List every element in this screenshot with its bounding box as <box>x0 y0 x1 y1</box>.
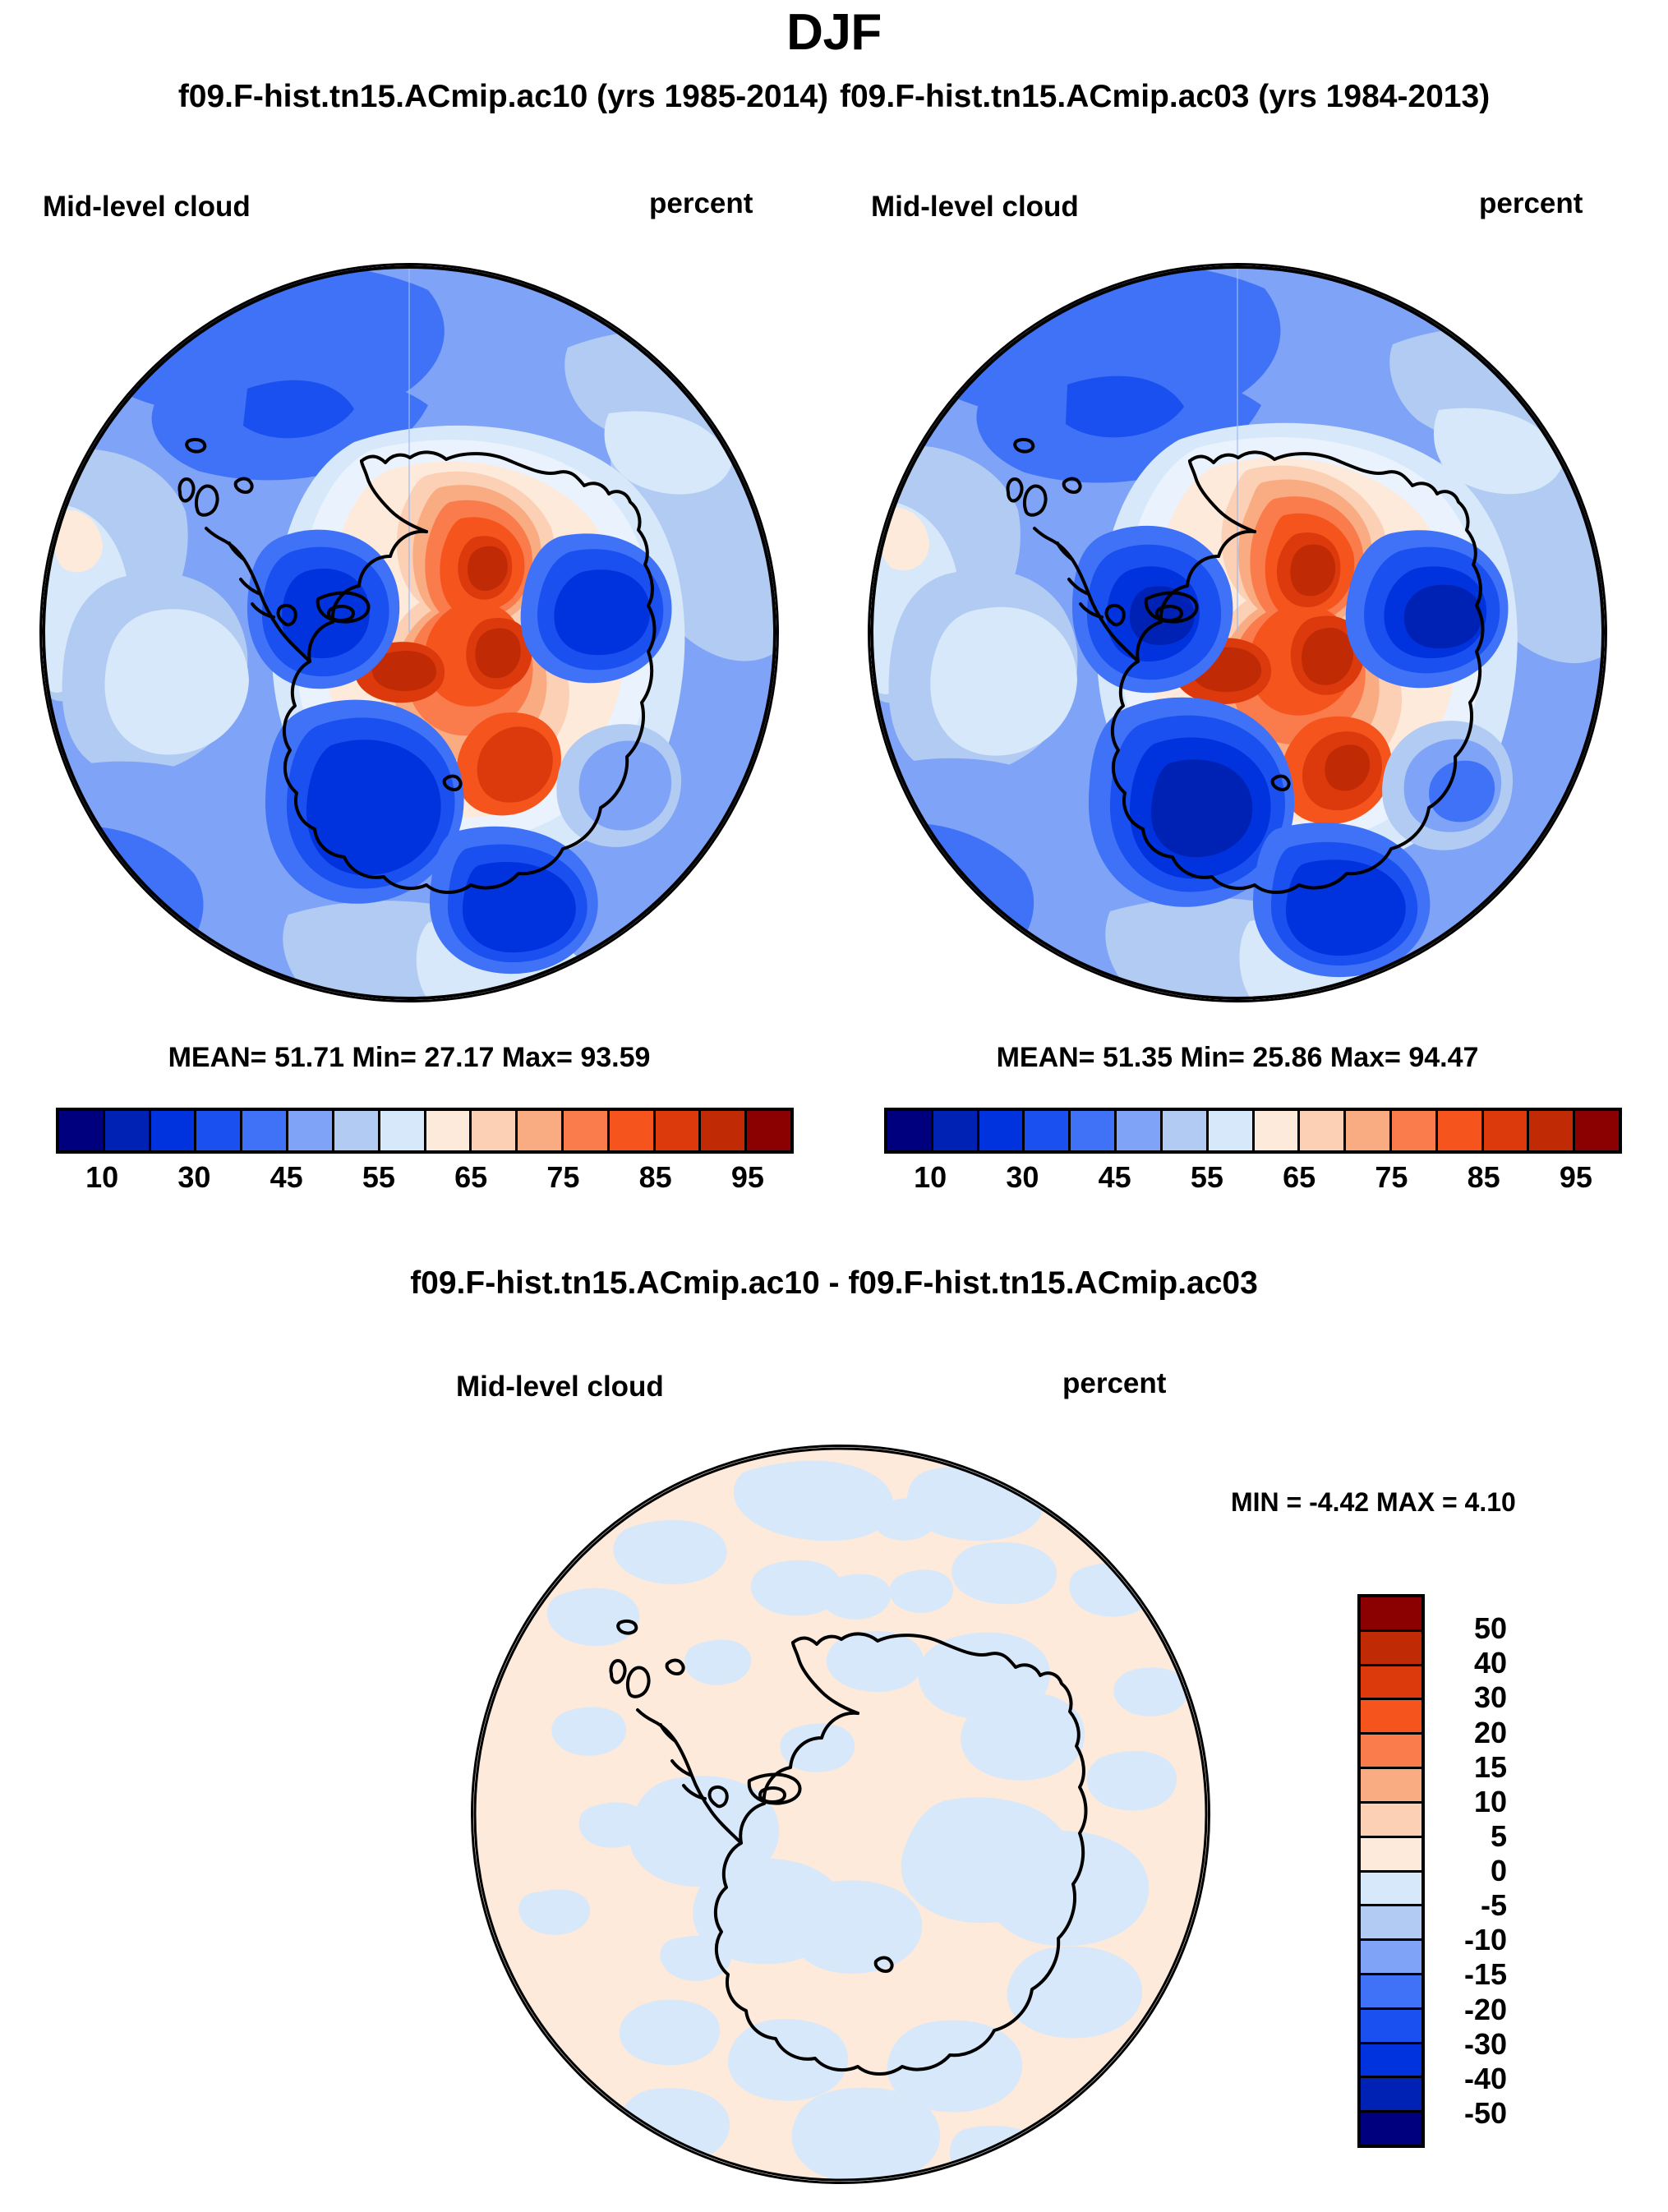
colorbar-left-cell-13 <box>656 1111 702 1150</box>
colorbar-difference-cell-4 <box>1361 1735 1421 1769</box>
colorbar-left-tick-65: 65 <box>454 1160 487 1195</box>
colorbar-left <box>56 1108 794 1154</box>
right-units-label: percent <box>1479 187 1583 220</box>
colorbar-difference-tick-30: 30 <box>1436 1680 1507 1715</box>
colorbar-right-tick-10: 10 <box>914 1160 947 1195</box>
colorbar-difference-cell-8 <box>1361 1873 1421 1907</box>
season-title: DJF <box>0 3 1668 62</box>
colorbar-left-tick-30: 30 <box>177 1160 210 1195</box>
colorbar-difference-tick-10: 10 <box>1436 1785 1507 1819</box>
colorbar-left-tick-10: 10 <box>85 1160 118 1195</box>
colorbar-difference-cell-12 <box>1361 2010 1421 2044</box>
diff-variable-label: Mid-level cloud <box>456 1371 664 1403</box>
colorbar-left-cell-4 <box>242 1111 288 1150</box>
colorbar-difference-tick-neg15: -15 <box>1436 1957 1507 1992</box>
left-stats: MEAN= 51.71 Min= 27.17 Max= 93.59 <box>39 1042 779 1074</box>
colorbar-left-cell-9 <box>472 1111 518 1150</box>
map-right-svg <box>870 265 1605 1000</box>
colorbar-difference-tick-neg40: -40 <box>1436 2062 1507 2096</box>
colorbar-difference-cell-11 <box>1361 1975 1421 2010</box>
colorbar-difference-cell-15 <box>1361 2113 1421 2145</box>
right-stats: MEAN= 51.35 Min= 25.86 Max= 94.47 <box>868 1042 1607 1074</box>
colorbar-right-cell-5 <box>1117 1111 1163 1150</box>
case-titles: f09.F-hist.tn15.ACmip.ac10 (yrs 1985-201… <box>0 79 1668 115</box>
colorbar-right-tick-55: 55 <box>1191 1160 1223 1195</box>
colorbar-difference-tick-5: 5 <box>1436 1819 1507 1854</box>
colorbar-difference-tick-neg5: -5 <box>1436 1888 1507 1923</box>
colorbar-right-cell-2 <box>979 1111 1025 1150</box>
colorbar-left-cell-0 <box>59 1111 105 1150</box>
colorbar-left-cell-2 <box>151 1111 197 1150</box>
case-title-right: f09.F-hist.tn15.ACmip.ac03 (yrs 1984-201… <box>840 79 1490 115</box>
colorbar-left-cell-3 <box>196 1111 242 1150</box>
colorbar-difference-tick-neg20: -20 <box>1436 1993 1507 2027</box>
colorbar-right-cell-9 <box>1300 1111 1346 1150</box>
colorbar-right-cell-14 <box>1529 1111 1575 1150</box>
colorbar-right-cell-4 <box>1071 1111 1117 1150</box>
colorbar-right-cell-11 <box>1392 1111 1438 1150</box>
colorbar-right-tick-30: 30 <box>1006 1160 1039 1195</box>
colorbar-left-cell-14 <box>701 1111 747 1150</box>
colorbar-right-cell-10 <box>1346 1111 1392 1150</box>
colorbar-left-tick-75: 75 <box>546 1160 579 1195</box>
colorbar-difference-cell-5 <box>1361 1769 1421 1804</box>
colorbar-right-ticks: 1030455565758595 <box>884 1160 1622 1205</box>
colorbar-difference-cell-0 <box>1361 1597 1421 1632</box>
map-left-ac10 <box>39 263 779 1002</box>
colorbar-difference-cell-6 <box>1361 1804 1421 1838</box>
colorbar-right-cell-13 <box>1484 1111 1530 1150</box>
colorbar-left-cell-5 <box>288 1111 334 1150</box>
map-difference <box>471 1445 1210 2184</box>
colorbar-difference-ticks: 50403020151050-5-10-15-20-30-40-50 <box>1436 1594 1507 2148</box>
colorbar-right-tick-85: 85 <box>1468 1160 1500 1195</box>
colorbar-left-cell-10 <box>518 1111 564 1150</box>
colorbar-left-cell-6 <box>334 1111 380 1150</box>
colorbar-difference-cell-7 <box>1361 1838 1421 1873</box>
colorbar-right-cell-3 <box>1025 1111 1071 1150</box>
colorbar-right-cell-8 <box>1255 1111 1301 1150</box>
right-variable-label: Mid-level cloud <box>871 191 1079 224</box>
left-units-label: percent <box>649 187 753 220</box>
colorbar-difference-cell-14 <box>1361 2078 1421 2113</box>
colorbar-left-cell-11 <box>564 1111 610 1150</box>
difference-title: f09.F-hist.tn15.ACmip.ac10 - f09.F-hist.… <box>0 1265 1668 1302</box>
case-title-left: f09.F-hist.tn15.ACmip.ac10 (yrs 1985-201… <box>178 79 828 115</box>
colorbar-right-tick-95: 95 <box>1560 1160 1592 1195</box>
colorbar-right <box>884 1108 1622 1154</box>
colorbar-difference-tick-0: 0 <box>1436 1854 1507 1888</box>
colorbar-difference-cell-1 <box>1361 1632 1421 1666</box>
colorbar-difference <box>1357 1594 1425 2148</box>
colorbar-right-tick-75: 75 <box>1375 1160 1408 1195</box>
colorbar-difference-tick-15: 15 <box>1436 1750 1507 1785</box>
colorbar-left-cell-7 <box>380 1111 426 1150</box>
colorbar-left-cell-1 <box>105 1111 151 1150</box>
colorbar-right-cell-7 <box>1209 1111 1255 1150</box>
colorbar-left-tick-85: 85 <box>639 1160 672 1195</box>
map-right-ac03 <box>868 263 1607 1002</box>
colorbar-left-cell-12 <box>610 1111 656 1150</box>
colorbar-right-cell-15 <box>1575 1111 1619 1150</box>
map-left-svg <box>42 265 776 1000</box>
colorbar-difference-tick-40: 40 <box>1436 1646 1507 1680</box>
map-diff-svg <box>473 1447 1208 2182</box>
colorbar-difference-tick-neg30: -30 <box>1436 2027 1507 2062</box>
colorbar-difference-cell-13 <box>1361 2044 1421 2079</box>
colorbar-difference-cell-9 <box>1361 1906 1421 1941</box>
colorbar-difference-cell-10 <box>1361 1941 1421 1975</box>
colorbar-right-tick-45: 45 <box>1099 1160 1131 1195</box>
colorbar-difference-cell-2 <box>1361 1666 1421 1701</box>
diff-minmax: MIN = -4.42 MAX = 4.10 <box>1231 1487 1516 1518</box>
diff-units-label: percent <box>1062 1367 1166 1400</box>
colorbar-difference-tick-20: 20 <box>1436 1716 1507 1750</box>
colorbar-right-cell-0 <box>887 1111 933 1150</box>
colorbar-difference-cell-3 <box>1361 1700 1421 1735</box>
colorbar-left-cell-15 <box>747 1111 790 1150</box>
colorbar-difference-tick-neg50: -50 <box>1436 2096 1507 2131</box>
figure-canvas: DJF f09.F-hist.tn15.ACmip.ac10 (yrs 1985… <box>0 0 1668 2212</box>
colorbar-right-cell-6 <box>1163 1111 1209 1150</box>
colorbar-left-ticks: 1030455565758595 <box>56 1160 794 1205</box>
colorbar-right-cell-12 <box>1438 1111 1484 1150</box>
colorbar-difference-tick-50: 50 <box>1436 1611 1507 1646</box>
colorbar-left-cell-8 <box>426 1111 472 1150</box>
colorbar-left-tick-55: 55 <box>362 1160 395 1195</box>
colorbar-right-cell-1 <box>933 1111 979 1150</box>
colorbar-left-tick-45: 45 <box>270 1160 303 1195</box>
colorbar-left-tick-95: 95 <box>731 1160 764 1195</box>
colorbar-right-tick-65: 65 <box>1283 1160 1316 1195</box>
left-variable-label: Mid-level cloud <box>43 191 251 224</box>
colorbar-difference-tick-neg10: -10 <box>1436 1923 1507 1957</box>
